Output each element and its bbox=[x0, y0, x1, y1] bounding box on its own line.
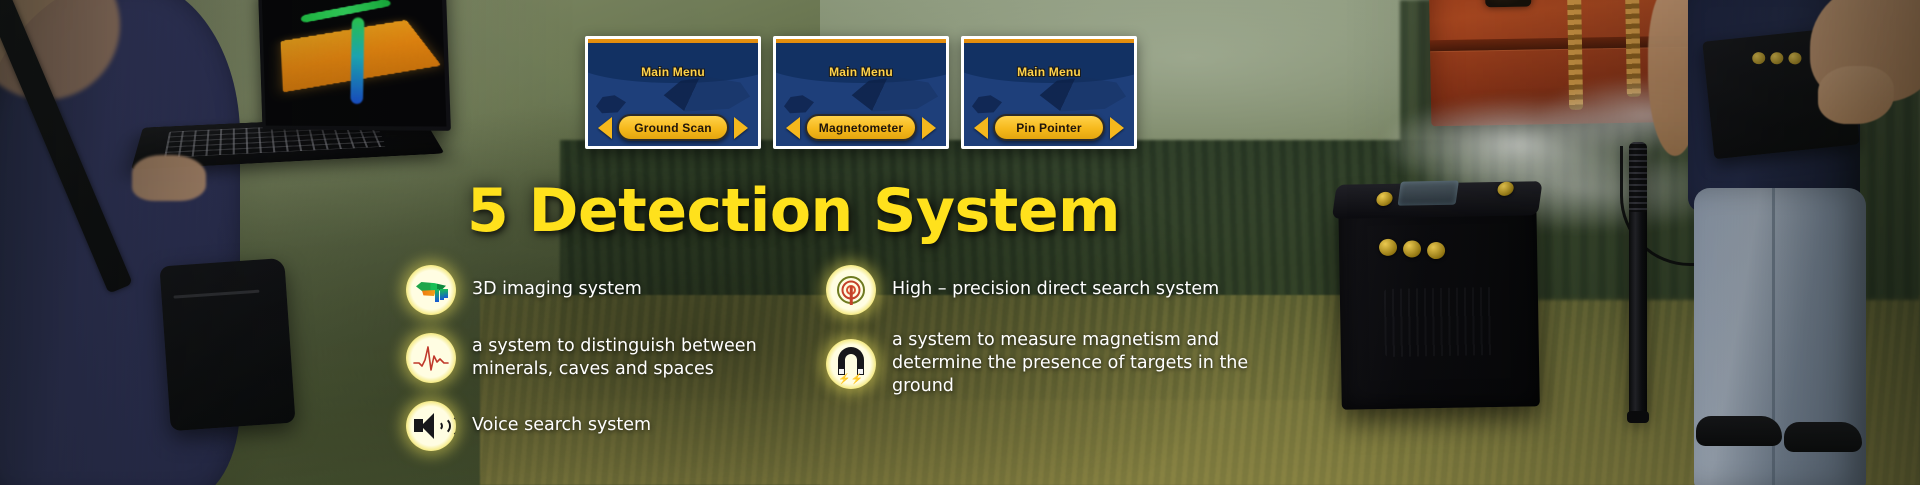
mode-button[interactable]: Ground Scan bbox=[617, 114, 729, 141]
feature-label: a system to distinguish between minerals… bbox=[472, 335, 796, 381]
left-arrow-icon[interactable] bbox=[786, 117, 800, 139]
feature-label: Voice search system bbox=[472, 414, 651, 437]
feature-item-direct-search: High – precision direct search system bbox=[826, 265, 1256, 315]
feature-item-magnetometry: ⚡⚡ a system to measure magnetism and det… bbox=[826, 329, 1256, 398]
panel-title: Main Menu bbox=[964, 65, 1134, 79]
radar-target-icon bbox=[826, 265, 876, 315]
feature-list-left: 3D imaging system a system to distinguis… bbox=[406, 265, 796, 469]
promo-banner: Mount Main Menu Ground Scan bbox=[0, 0, 1920, 485]
right-arrow-icon[interactable] bbox=[734, 117, 748, 139]
right-arrow-icon[interactable] bbox=[1110, 117, 1124, 139]
feature-item-mineral-discrimination: a system to distinguish between minerals… bbox=[406, 333, 796, 383]
feature-list-right: High – precision direct search system ⚡⚡… bbox=[826, 265, 1256, 412]
device-panel-ground-scan[interactable]: Mount Main Menu Ground Scan bbox=[585, 36, 761, 149]
page-title: 5 Detection System bbox=[467, 176, 1120, 246]
panel-artwork-2 bbox=[596, 93, 626, 115]
panel-body: Main Menu Ground Scan bbox=[588, 59, 758, 149]
panel-body: Main Menu Magnetometer bbox=[776, 59, 946, 149]
panel-title: Main Menu bbox=[776, 65, 946, 79]
panel-mode-selector: Ground Scan bbox=[588, 114, 758, 141]
feature-label: a system to measure magnetism and determ… bbox=[892, 329, 1256, 398]
right-arrow-icon[interactable] bbox=[922, 117, 936, 139]
mode-button[interactable]: Pin Pointer bbox=[993, 114, 1105, 141]
panel-artwork-2 bbox=[972, 93, 1002, 115]
feature-item-3d-imaging: 3D imaging system bbox=[406, 265, 796, 315]
device-panel-pin-pointer[interactable]: Mount Main Menu Pin Pointer bbox=[961, 36, 1137, 149]
left-arrow-icon[interactable] bbox=[598, 117, 612, 139]
mode-button[interactable]: Magnetometer bbox=[805, 114, 917, 141]
panel-title: Main Menu bbox=[588, 65, 758, 79]
speaker-sound-icon bbox=[406, 401, 456, 451]
panel-mode-selector: Pin Pointer bbox=[964, 114, 1134, 141]
ekg-waveform-icon bbox=[406, 333, 456, 383]
panel-artwork-2 bbox=[784, 93, 814, 115]
left-arrow-icon[interactable] bbox=[974, 117, 988, 139]
device-menu-panels: Mount Main Menu Ground Scan bbox=[585, 36, 1137, 149]
device-panel-magnetometer[interactable]: Mount Main Menu Magnetometer bbox=[773, 36, 949, 149]
panel-body: Main Menu Pin Pointer bbox=[964, 59, 1134, 149]
feature-label: High – precision direct search system bbox=[892, 278, 1219, 301]
feature-label: 3D imaging system bbox=[472, 278, 642, 301]
3d-terrain-scan-icon bbox=[406, 265, 456, 315]
horseshoe-magnet-icon: ⚡⚡ bbox=[826, 339, 876, 389]
panel-mode-selector: Magnetometer bbox=[776, 114, 946, 141]
feature-item-voice-search: Voice search system bbox=[406, 401, 796, 451]
